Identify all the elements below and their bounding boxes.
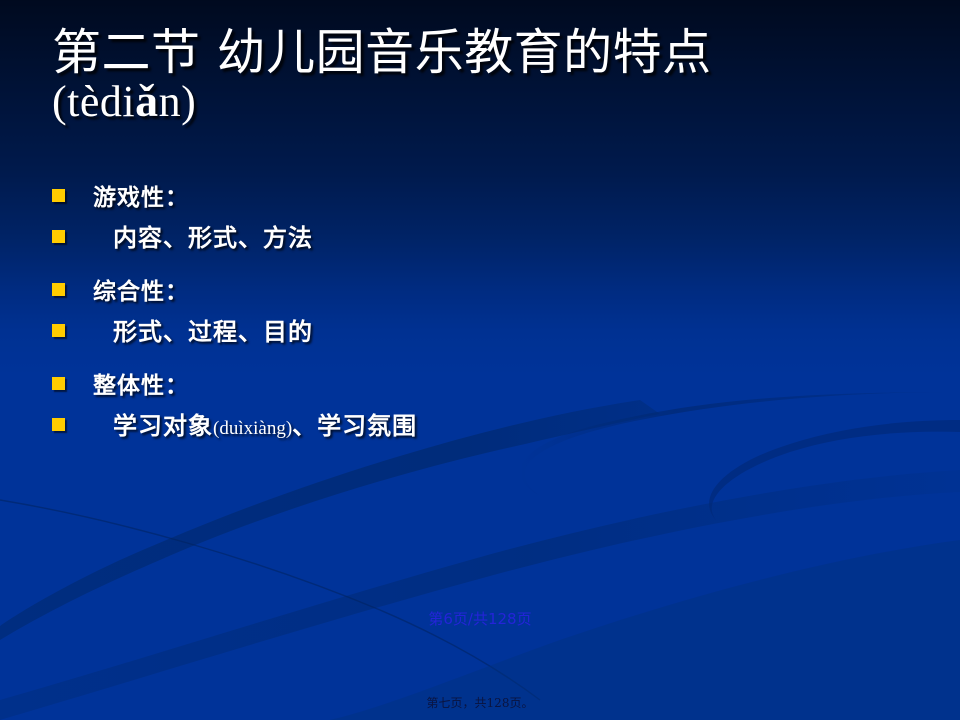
detail-prefix: 学习对象: [113, 411, 213, 440]
square-bullet-icon: [52, 324, 65, 337]
detail-pinyin: (duìxiàng): [213, 418, 292, 439]
group-detail: 形式、过程、目的: [113, 312, 313, 347]
list-item: 整体性：: [52, 366, 932, 406]
group-detail: 内容、形式、方法: [113, 218, 313, 253]
content-group-3: 整体性： 学习对象(duìxiàng)、学习氛围: [52, 366, 932, 448]
group-heading: 整体性：: [93, 366, 189, 400]
pinyin-open: (tèdi: [52, 77, 135, 126]
content-group-2: 综合性： 形式、过程、目的: [52, 272, 932, 354]
bullet-list: 游戏性： 内容、形式、方法 综合性： 形式、过程、目的 整体性：: [52, 178, 932, 460]
square-bullet-icon: [52, 283, 65, 296]
group-heading: 综合性：: [93, 272, 189, 306]
pinyin-accent: ǎ: [135, 75, 159, 126]
detail-suffix: 、学习氛围: [292, 411, 417, 440]
square-bullet-icon: [52, 230, 65, 243]
list-item: 学习对象(duìxiàng)、学习氛围: [52, 406, 932, 448]
square-bullet-icon: [52, 418, 65, 431]
list-item: 内容、形式、方法: [52, 218, 932, 260]
slide-title: 第二节 幼儿园音乐教育的特点 (tèdiǎn): [52, 28, 912, 125]
presentation-slide: 第二节 幼儿园音乐教育的特点 (tèdiǎn) 游戏性： 内容、形式、方法 综合…: [0, 0, 960, 720]
group-detail: 学习对象(duìxiàng)、学习氛围: [113, 406, 417, 441]
bottom-page-note: 第七页，共128页。: [0, 694, 960, 711]
pinyin-close: n): [159, 77, 197, 126]
content-group-1: 游戏性： 内容、形式、方法: [52, 178, 932, 260]
square-bullet-icon: [52, 189, 65, 202]
list-item: 游戏性：: [52, 178, 932, 218]
slide-title-line1: 第二节 幼儿园音乐教育的特点: [52, 28, 912, 78]
list-item: 形式、过程、目的: [52, 312, 932, 354]
slide-title-pinyin: (tèdiǎn): [52, 78, 912, 125]
square-bullet-icon: [52, 377, 65, 390]
group-heading: 游戏性：: [93, 178, 189, 212]
page-indicator: 第6页/共128页: [0, 608, 960, 629]
list-item: 综合性：: [52, 272, 932, 312]
